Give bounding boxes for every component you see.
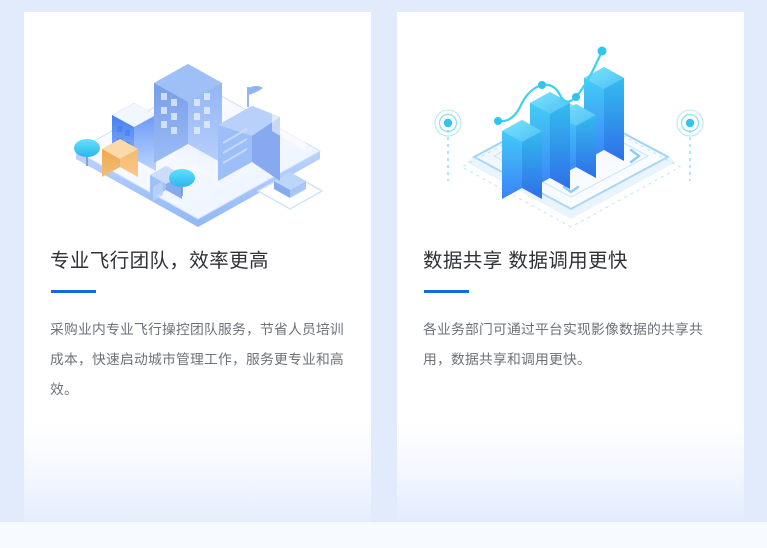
card-description: 各业务部门可通过平台实现影像数据的共享共用，数据共享和调用更快。	[423, 315, 718, 374]
feature-card-data-sharing[interactable]: 数据共享 数据调用更快 各业务部门可通过平台实现影像数据的共享共用，数据共享和调…	[397, 12, 744, 536]
feature-card-flight-team[interactable]: 专业飞行团队，效率更高 采购业内专业飞行操控团队服务，节省人员培训成本，快速启动…	[24, 12, 371, 536]
card-title: 数据共享 数据调用更快	[423, 250, 718, 273]
beacon-marker-right	[677, 110, 703, 181]
title-accent-rule	[424, 290, 469, 293]
card-description: 采购业内专业飞行操控团队服务，节省人员培训成本，快速启动城市管理工作，服务更专业…	[50, 315, 345, 404]
card-text-block: 专业飞行团队，效率更高 采购业内专业飞行操控团队服务，节省人员培训成本，快速启动…	[24, 250, 371, 404]
feature-card-list: 专业飞行团队，效率更高 采购业内专业飞行操控团队服务，节省人员培训成本，快速启动…	[24, 12, 744, 536]
card-text-block: 数据共享 数据调用更快 各业务部门可通过平台实现影像数据的共享共用，数据共享和调…	[397, 250, 744, 375]
isometric-city-illustration	[24, 12, 371, 250]
bar-chart-illustration-svg	[426, 31, 716, 231]
title-accent-rule	[51, 290, 96, 293]
page-root: 专业飞行团队，效率更高 采购业内专业飞行操控团队服务，节省人员培训成本，快速启动…	[0, 0, 767, 548]
card-title: 专业飞行团队，效率更高	[50, 250, 345, 273]
watermark-text: · · · · ·	[722, 541, 763, 547]
flag	[248, 86, 263, 95]
beacon-marker-left	[435, 110, 461, 181]
bar-1	[502, 120, 542, 199]
city-illustration-svg	[58, 31, 338, 231]
isometric-bar-chart-illustration	[397, 12, 744, 250]
page-bottom-wash	[0, 522, 767, 548]
